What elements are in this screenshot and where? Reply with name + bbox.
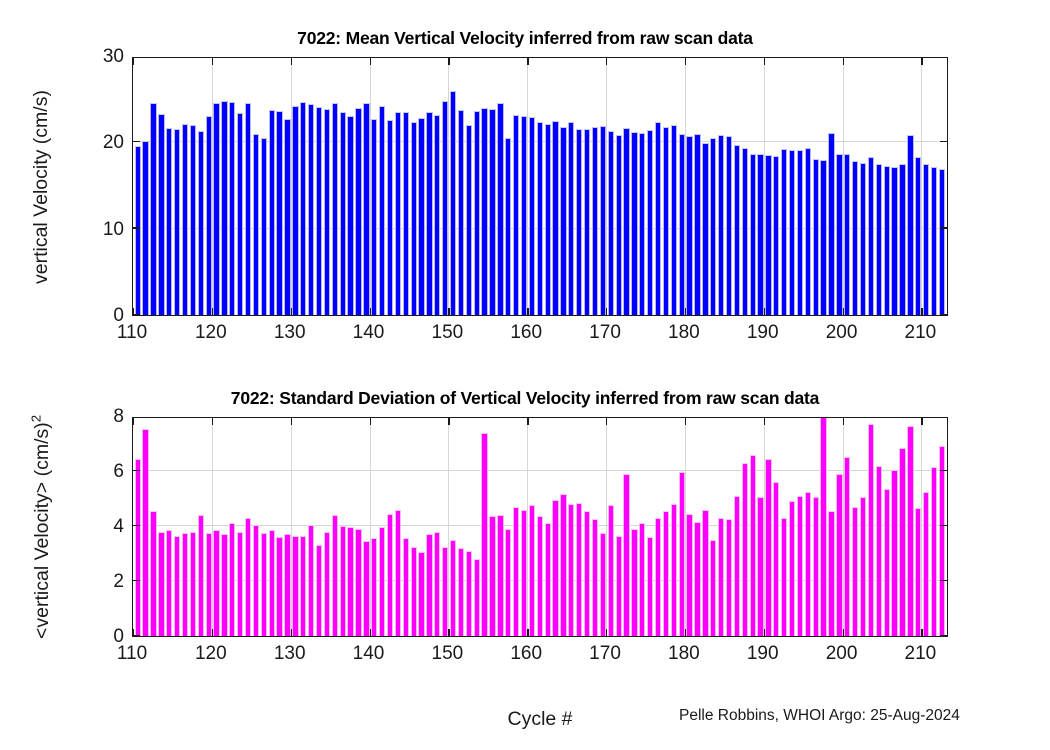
bar bbox=[521, 116, 527, 315]
x-axis-tick-label: 160 bbox=[510, 643, 542, 665]
bar bbox=[403, 538, 409, 636]
y-axis-tick-label: 4 bbox=[74, 516, 124, 538]
bar bbox=[584, 511, 590, 636]
bar bbox=[655, 122, 661, 315]
y-axis-tick bbox=[940, 635, 947, 636]
x-axis-tick-label: 200 bbox=[826, 643, 858, 665]
bar bbox=[513, 115, 519, 315]
bar bbox=[655, 518, 661, 636]
bar bbox=[466, 551, 472, 636]
bar bbox=[734, 496, 740, 636]
x-axis-tick bbox=[527, 418, 528, 425]
y-axis-tick bbox=[940, 470, 947, 471]
panel-mean-vertical-velocity: 7022: Mean Vertical Velocity inferred fr… bbox=[0, 0, 1050, 370]
bar bbox=[852, 507, 858, 636]
bar bbox=[229, 102, 235, 315]
bar bbox=[206, 533, 212, 636]
bar bbox=[237, 113, 243, 315]
bar bbox=[789, 150, 795, 315]
bar bbox=[411, 547, 417, 636]
x-axis-tick-label: 120 bbox=[195, 322, 227, 344]
bar bbox=[631, 132, 637, 315]
bar bbox=[474, 111, 480, 315]
bar bbox=[545, 124, 551, 315]
x-axis-tick bbox=[606, 308, 607, 315]
bar bbox=[828, 511, 834, 636]
bar bbox=[616, 536, 622, 636]
y-axis-tick bbox=[940, 580, 947, 581]
bar bbox=[182, 533, 188, 636]
x-axis-tick-label: 150 bbox=[432, 643, 464, 665]
bar bbox=[671, 504, 677, 636]
bar bbox=[481, 108, 487, 315]
bar bbox=[142, 141, 148, 315]
bar bbox=[679, 472, 685, 636]
bar bbox=[718, 518, 724, 636]
x-axis-tick bbox=[843, 418, 844, 425]
bar-series bbox=[133, 58, 947, 315]
x-axis-tick bbox=[843, 629, 844, 636]
x-axis-tick-label: 210 bbox=[905, 643, 937, 665]
bar bbox=[765, 459, 771, 636]
bar bbox=[158, 114, 164, 315]
bar bbox=[418, 552, 424, 636]
x-axis-tick bbox=[370, 58, 371, 65]
bar bbox=[805, 492, 811, 636]
y-axis-tick-label: 20 bbox=[74, 132, 124, 154]
bar bbox=[891, 167, 897, 315]
bar bbox=[150, 103, 156, 315]
bar bbox=[939, 169, 945, 315]
x-axis-tick-label: 140 bbox=[353, 643, 385, 665]
x-axis-tick-label: 190 bbox=[747, 322, 779, 344]
bar bbox=[245, 518, 251, 636]
y-axis-tick bbox=[133, 525, 140, 526]
x-axis-tick-label: 210 bbox=[905, 322, 937, 344]
bar bbox=[142, 429, 148, 636]
bar bbox=[418, 118, 424, 315]
bar bbox=[860, 163, 866, 315]
bar bbox=[726, 136, 732, 315]
bar bbox=[253, 525, 259, 636]
y-axis-tick-label: 2 bbox=[74, 571, 124, 593]
plot-area-mean bbox=[132, 57, 948, 316]
bar bbox=[726, 519, 732, 636]
x-axis-tick bbox=[448, 418, 449, 425]
bar bbox=[805, 148, 811, 315]
x-axis-tick-label: 170 bbox=[589, 322, 621, 344]
bar bbox=[190, 125, 196, 315]
bar bbox=[300, 102, 306, 315]
bar bbox=[868, 157, 874, 315]
y-axis-label-std: <vertical Velocity> (cm/s)2 bbox=[28, 415, 54, 639]
bar bbox=[781, 149, 787, 315]
bar bbox=[828, 133, 834, 315]
x-axis-tick-label: 200 bbox=[826, 322, 858, 344]
y-axis-tick bbox=[940, 525, 947, 526]
bar bbox=[623, 128, 629, 315]
bar bbox=[884, 166, 890, 315]
bar bbox=[907, 135, 913, 315]
bar bbox=[300, 536, 306, 636]
bar bbox=[647, 537, 653, 636]
bar bbox=[608, 131, 614, 315]
x-axis-tick bbox=[921, 308, 922, 315]
x-axis-tick bbox=[370, 629, 371, 636]
bar bbox=[899, 164, 905, 315]
bar bbox=[363, 103, 369, 315]
y-axis-tick bbox=[133, 141, 140, 142]
bar bbox=[292, 106, 298, 315]
bar bbox=[308, 104, 314, 315]
panel-std-vertical-velocity: 7022: Standard Deviation of Vertical Vel… bbox=[0, 370, 1050, 750]
bar bbox=[694, 134, 700, 315]
bar bbox=[221, 534, 227, 636]
bar bbox=[891, 470, 897, 636]
bar bbox=[616, 135, 622, 315]
bar bbox=[395, 510, 401, 637]
bar bbox=[347, 116, 353, 315]
y-axis-tick bbox=[940, 314, 947, 315]
bar bbox=[221, 101, 227, 315]
x-axis-tick bbox=[764, 308, 765, 315]
bar bbox=[600, 533, 606, 636]
bar bbox=[813, 497, 819, 636]
bar bbox=[324, 109, 330, 315]
bar bbox=[639, 133, 645, 315]
bar bbox=[340, 112, 346, 315]
x-axis-tick-label: 180 bbox=[668, 322, 700, 344]
x-axis-tick bbox=[606, 58, 607, 65]
bar bbox=[174, 536, 180, 636]
x-axis-tick bbox=[843, 58, 844, 65]
bar bbox=[379, 527, 385, 636]
y-axis-tick-label: 0 bbox=[74, 626, 124, 648]
bar bbox=[757, 497, 763, 636]
x-axis-tick bbox=[606, 418, 607, 425]
bar bbox=[820, 417, 826, 636]
bar bbox=[529, 117, 535, 315]
x-axis-tick-label: 180 bbox=[668, 643, 700, 665]
bar bbox=[332, 103, 338, 315]
bar bbox=[284, 534, 290, 636]
bar bbox=[781, 518, 787, 636]
bar bbox=[229, 523, 235, 636]
bar bbox=[355, 529, 361, 636]
x-axis-tick bbox=[921, 629, 922, 636]
x-axis-tick bbox=[843, 308, 844, 315]
y-axis-tick bbox=[940, 227, 947, 228]
y-axis-tick bbox=[133, 580, 140, 581]
bar bbox=[387, 120, 393, 315]
bar bbox=[568, 504, 574, 636]
bar bbox=[710, 540, 716, 636]
bar bbox=[481, 433, 487, 637]
bar bbox=[765, 155, 771, 315]
x-axis-tick bbox=[685, 308, 686, 315]
bar bbox=[915, 508, 921, 636]
x-axis-tick bbox=[685, 58, 686, 65]
credit-text: Pelle Robbins, WHOI Argo: 25-Aug-2024 bbox=[679, 707, 960, 725]
bar bbox=[442, 547, 448, 636]
bar bbox=[245, 103, 251, 315]
bar bbox=[316, 107, 322, 315]
bar bbox=[269, 530, 275, 636]
bar bbox=[182, 124, 188, 315]
bar bbox=[387, 514, 393, 636]
bar bbox=[426, 534, 432, 636]
bar bbox=[253, 134, 259, 315]
x-axis-tick bbox=[527, 308, 528, 315]
bar bbox=[757, 154, 763, 315]
x-axis-tick bbox=[370, 308, 371, 315]
bar bbox=[545, 523, 551, 636]
bar bbox=[789, 501, 795, 636]
bar bbox=[718, 135, 724, 315]
bar bbox=[923, 492, 929, 636]
bar bbox=[663, 127, 669, 315]
bar bbox=[773, 482, 779, 636]
bar bbox=[907, 426, 913, 636]
bar bbox=[489, 109, 495, 315]
bar bbox=[174, 129, 180, 315]
bar bbox=[852, 161, 858, 315]
bar bbox=[458, 548, 464, 636]
figure-canvas: 7022: Mean Vertical Velocity inferred fr… bbox=[0, 0, 1050, 750]
chart-title-mean: 7022: Mean Vertical Velocity inferred fr… bbox=[0, 28, 1050, 49]
x-axis-label: Cycle # bbox=[507, 708, 572, 731]
bar bbox=[750, 455, 756, 637]
bar bbox=[379, 106, 385, 315]
bar bbox=[363, 541, 369, 636]
bar bbox=[899, 448, 905, 636]
bar bbox=[166, 128, 172, 315]
bar bbox=[647, 130, 653, 315]
bar bbox=[497, 103, 503, 315]
bar bbox=[939, 446, 945, 636]
bar bbox=[797, 150, 803, 315]
bar bbox=[694, 522, 700, 636]
bar bbox=[702, 510, 708, 637]
bar bbox=[560, 127, 566, 315]
bar bbox=[576, 129, 582, 315]
bar bbox=[576, 503, 582, 636]
bar bbox=[497, 515, 503, 636]
bar bbox=[702, 143, 708, 315]
x-axis-tick-label: 150 bbox=[432, 322, 464, 344]
y-axis-tick bbox=[133, 314, 140, 315]
bar bbox=[269, 110, 275, 315]
x-axis-tick-label: 130 bbox=[274, 643, 306, 665]
y-axis-tick bbox=[133, 227, 140, 228]
bar bbox=[592, 519, 598, 636]
bar bbox=[884, 489, 890, 636]
x-axis-tick bbox=[764, 58, 765, 65]
bar bbox=[395, 112, 401, 315]
bar bbox=[426, 112, 432, 315]
x-axis-tick bbox=[212, 58, 213, 65]
x-axis-tick-label: 130 bbox=[274, 322, 306, 344]
bar-series bbox=[133, 418, 947, 636]
bar bbox=[876, 164, 882, 315]
bar bbox=[206, 116, 212, 315]
x-axis-tick bbox=[370, 418, 371, 425]
bar bbox=[686, 514, 692, 636]
x-axis-tick-label: 120 bbox=[195, 643, 227, 665]
bar bbox=[915, 157, 921, 315]
bar bbox=[276, 111, 282, 315]
bar bbox=[505, 529, 511, 636]
bar bbox=[505, 138, 511, 315]
x-axis-tick bbox=[606, 629, 607, 636]
x-axis-tick bbox=[291, 308, 292, 315]
bar bbox=[158, 532, 164, 637]
bar bbox=[797, 496, 803, 636]
x-axis-tick bbox=[212, 418, 213, 425]
bar bbox=[489, 516, 495, 636]
bar bbox=[844, 457, 850, 636]
x-axis-tick bbox=[212, 308, 213, 315]
bar bbox=[860, 497, 866, 636]
bar bbox=[876, 466, 882, 637]
bar bbox=[135, 459, 141, 636]
bar bbox=[237, 532, 243, 637]
bar bbox=[332, 515, 338, 636]
x-axis-tick bbox=[291, 418, 292, 425]
bar bbox=[663, 511, 669, 636]
x-axis-tick bbox=[685, 418, 686, 425]
bar bbox=[198, 131, 204, 315]
bar bbox=[552, 121, 558, 315]
bar bbox=[931, 467, 937, 636]
x-axis-tick bbox=[212, 629, 213, 636]
bar bbox=[686, 136, 692, 315]
bar bbox=[213, 103, 219, 315]
bar bbox=[450, 91, 456, 315]
bar bbox=[355, 108, 361, 315]
bar bbox=[671, 125, 677, 315]
bar bbox=[150, 511, 156, 636]
bar bbox=[537, 122, 543, 315]
y-axis-label-mean: vertical Velocity (cm/s) bbox=[30, 90, 53, 284]
bar bbox=[292, 536, 298, 636]
x-axis-tick bbox=[685, 629, 686, 636]
chart-title-std: 7022: Standard Deviation of Vertical Vel… bbox=[0, 388, 1050, 409]
bar bbox=[261, 533, 267, 636]
x-axis-tick bbox=[764, 629, 765, 636]
x-axis-tick-label: 140 bbox=[353, 322, 385, 344]
bar bbox=[537, 516, 543, 636]
bar bbox=[458, 110, 464, 315]
plot-area-std bbox=[132, 417, 948, 637]
y-axis-tick-label: 8 bbox=[74, 406, 124, 428]
x-axis-tick bbox=[291, 58, 292, 65]
bar bbox=[434, 532, 440, 637]
bar bbox=[679, 134, 685, 315]
bar bbox=[844, 154, 850, 315]
bar bbox=[371, 119, 377, 315]
bar bbox=[639, 523, 645, 636]
bar bbox=[316, 545, 322, 636]
bar bbox=[710, 138, 716, 315]
bar bbox=[513, 507, 519, 636]
x-axis-tick bbox=[921, 418, 922, 425]
y-axis-tick-label: 30 bbox=[74, 46, 124, 68]
bar bbox=[340, 526, 346, 636]
y-axis-tick-label: 6 bbox=[74, 461, 124, 483]
y-axis-tick bbox=[133, 470, 140, 471]
bar bbox=[552, 500, 558, 636]
bar bbox=[529, 505, 535, 636]
bar bbox=[742, 148, 748, 315]
y-axis-tick bbox=[133, 635, 140, 636]
bar bbox=[411, 122, 417, 315]
bar bbox=[931, 167, 937, 315]
bar bbox=[450, 540, 456, 636]
bar bbox=[923, 164, 929, 315]
bar bbox=[324, 532, 330, 637]
bar bbox=[813, 159, 819, 315]
bar bbox=[836, 154, 842, 315]
bar bbox=[442, 101, 448, 315]
bar bbox=[584, 129, 590, 315]
y-axis-tick-label: 10 bbox=[74, 219, 124, 241]
bar bbox=[190, 532, 196, 637]
bar bbox=[261, 138, 267, 315]
bar bbox=[276, 537, 282, 636]
bar bbox=[560, 494, 566, 636]
bar bbox=[600, 126, 606, 315]
x-axis-tick bbox=[448, 629, 449, 636]
x-axis-tick-label: 160 bbox=[510, 322, 542, 344]
bar bbox=[308, 525, 314, 636]
bar bbox=[521, 510, 527, 637]
x-axis-tick bbox=[291, 629, 292, 636]
bar bbox=[284, 119, 290, 315]
bar bbox=[868, 424, 874, 636]
bar bbox=[347, 527, 353, 636]
y-axis-tick-label: 0 bbox=[74, 305, 124, 327]
bar bbox=[836, 474, 842, 636]
bar bbox=[403, 112, 409, 315]
x-axis-tick bbox=[448, 58, 449, 65]
x-axis-tick bbox=[448, 308, 449, 315]
bar bbox=[213, 530, 219, 636]
bar bbox=[820, 160, 826, 315]
bar bbox=[568, 122, 574, 315]
x-axis-tick bbox=[527, 58, 528, 65]
bar bbox=[198, 515, 204, 636]
y-axis-tick bbox=[940, 141, 947, 142]
bar bbox=[623, 474, 629, 636]
bar bbox=[750, 154, 756, 315]
bar bbox=[466, 125, 472, 315]
bar bbox=[742, 463, 748, 636]
x-axis-tick bbox=[921, 58, 922, 65]
x-axis-tick bbox=[527, 629, 528, 636]
x-axis-tick bbox=[133, 418, 134, 425]
bar bbox=[371, 538, 377, 636]
bar bbox=[135, 146, 141, 315]
x-axis-tick bbox=[764, 418, 765, 425]
x-axis-tick-label: 190 bbox=[747, 643, 779, 665]
x-axis-tick-label: 170 bbox=[589, 643, 621, 665]
bar bbox=[734, 145, 740, 315]
bar bbox=[608, 505, 614, 636]
bar bbox=[474, 559, 480, 636]
bar bbox=[773, 156, 779, 315]
bar bbox=[592, 127, 598, 315]
